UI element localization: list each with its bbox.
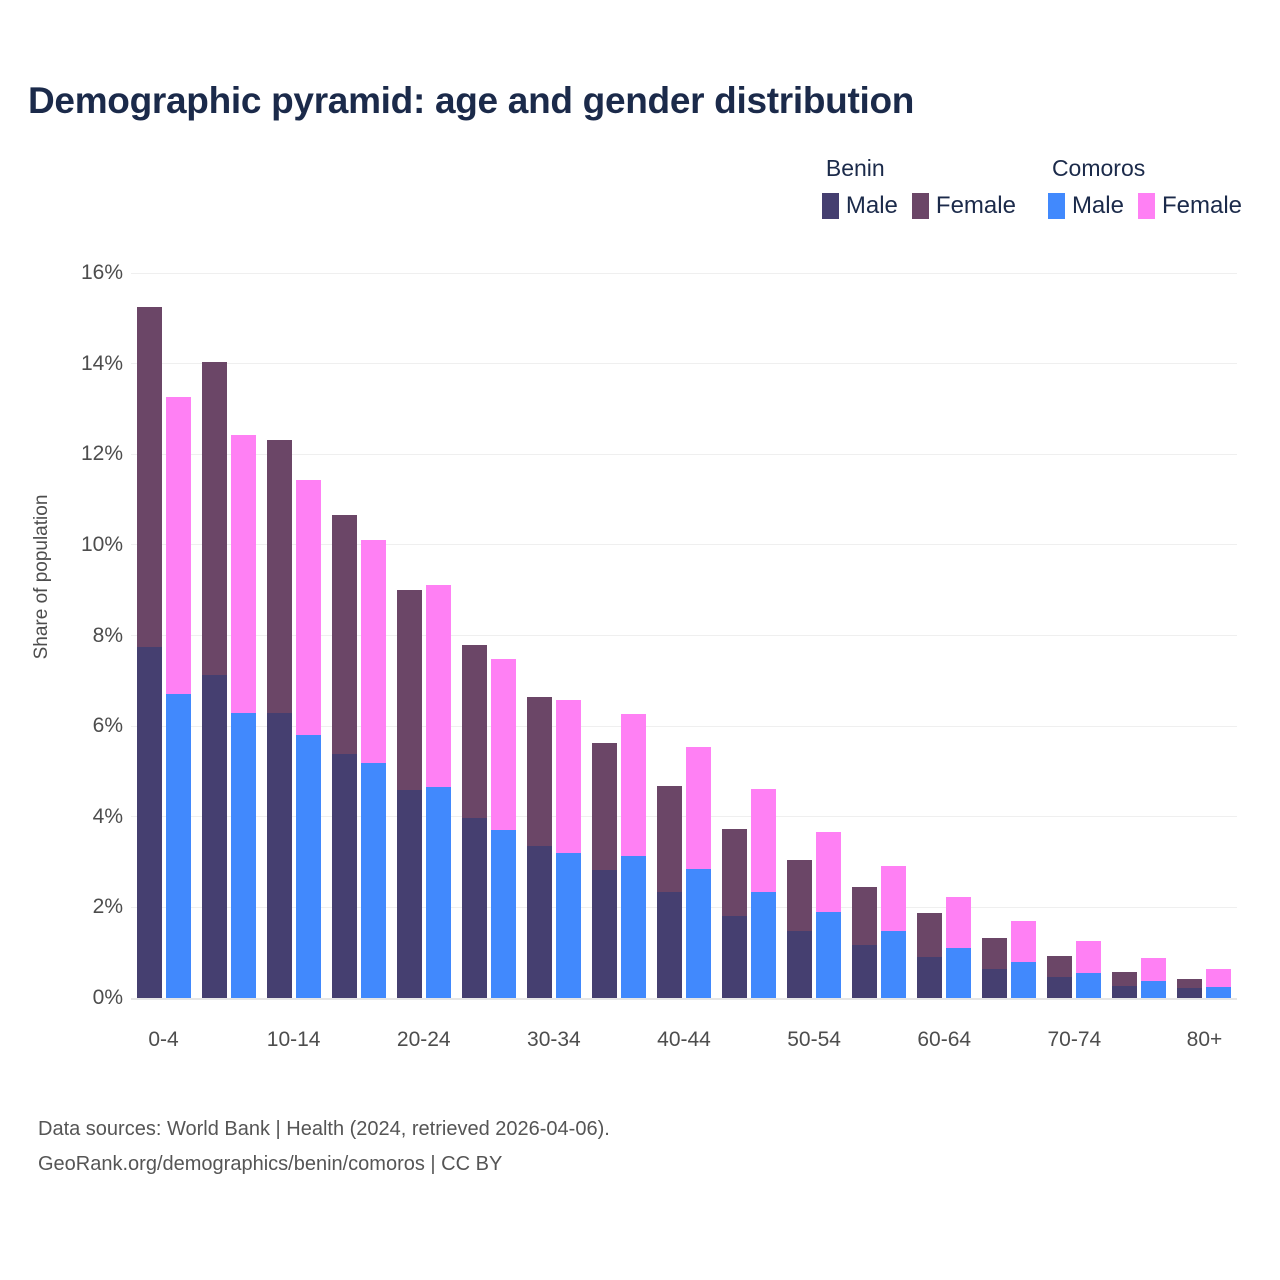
bar-segment-comoros-female bbox=[491, 659, 516, 830]
bar-segment-benin-male bbox=[267, 713, 292, 998]
bar-segment-benin-male bbox=[462, 818, 487, 998]
bar-benin-75-79[interactable] bbox=[1112, 972, 1137, 998]
x-axis-tick-label: 30-34 bbox=[527, 1028, 581, 1052]
bar-segment-comoros-female bbox=[1076, 941, 1101, 973]
legend-group-title: Comoros bbox=[1048, 155, 1145, 182]
bar-comoros-20-24[interactable] bbox=[426, 585, 451, 998]
bar-comoros-80+[interactable] bbox=[1206, 969, 1231, 998]
x-axis-tick-label: 80+ bbox=[1187, 1028, 1223, 1052]
y-axis-tick-label: 16% bbox=[43, 261, 123, 285]
y-axis-tick-label: 4% bbox=[43, 805, 123, 829]
legend-group-title: Benin bbox=[822, 155, 885, 182]
bar-comoros-0-4[interactable] bbox=[166, 397, 191, 998]
bar-segment-benin-male bbox=[592, 870, 617, 998]
bar-segment-comoros-male bbox=[621, 856, 646, 998]
bar-benin-20-24[interactable] bbox=[397, 590, 422, 998]
bar-benin-80+[interactable] bbox=[1177, 979, 1202, 998]
bar-segment-comoros-female bbox=[751, 789, 776, 892]
bar-comoros-40-44[interactable] bbox=[686, 747, 711, 998]
bar-segment-comoros-male bbox=[426, 787, 451, 998]
bar-segment-benin-female bbox=[332, 515, 357, 754]
bar-benin-0-4[interactable] bbox=[137, 307, 162, 998]
bar-segment-comoros-female bbox=[296, 480, 321, 735]
bar-comoros-65-69[interactable] bbox=[1011, 921, 1036, 998]
bar-benin-60-64[interactable] bbox=[917, 913, 942, 998]
y-axis-tick-label: 6% bbox=[43, 714, 123, 738]
bar-segment-benin-female bbox=[852, 887, 877, 945]
bar-segment-comoros-female bbox=[231, 435, 256, 713]
bar-segment-benin-female bbox=[787, 860, 812, 931]
bar-segment-benin-female bbox=[982, 938, 1007, 969]
bar-segment-comoros-female bbox=[1141, 958, 1166, 981]
bar-segment-benin-male bbox=[982, 969, 1007, 998]
bar-comoros-15-19[interactable] bbox=[361, 540, 386, 998]
x-axis-tick-label: 0-4 bbox=[148, 1028, 178, 1052]
bar-benin-5-9[interactable] bbox=[202, 362, 227, 998]
bar-benin-70-74[interactable] bbox=[1047, 956, 1072, 998]
bar-segment-comoros-male bbox=[166, 694, 191, 998]
bar-benin-35-39[interactable] bbox=[592, 743, 617, 998]
footer-attribution: GeoRank.org/demographics/benin/comoros |… bbox=[38, 1147, 610, 1182]
bar-segment-benin-male bbox=[657, 892, 682, 998]
bar-benin-55-59[interactable] bbox=[852, 887, 877, 998]
y-axis-tick-label: 8% bbox=[43, 624, 123, 648]
bar-segment-benin-male bbox=[1047, 977, 1072, 998]
bar-benin-15-19[interactable] bbox=[332, 515, 357, 998]
y-axis-tick-label: 12% bbox=[43, 442, 123, 466]
bar-segment-comoros-female bbox=[556, 700, 581, 853]
bar-segment-comoros-female bbox=[166, 397, 191, 695]
bar-segment-comoros-female bbox=[361, 540, 386, 763]
bar-segment-comoros-male bbox=[556, 853, 581, 998]
gridline bbox=[131, 363, 1237, 364]
legend-item-benin-female[interactable]: Female bbox=[912, 192, 1016, 220]
bar-comoros-30-34[interactable] bbox=[556, 700, 581, 998]
bar-segment-comoros-male bbox=[1206, 987, 1231, 998]
chart-container: Demographic pyramid: age and gender dist… bbox=[0, 0, 1280, 1280]
bar-segment-comoros-male bbox=[686, 869, 711, 998]
legend-group-benin: BeninMaleFemale bbox=[822, 155, 1016, 220]
bar-segment-benin-male bbox=[137, 647, 162, 998]
bar-benin-50-54[interactable] bbox=[787, 860, 812, 998]
x-axis-tick-label: 60-64 bbox=[917, 1028, 971, 1052]
chart-footer: Data sources: World Bank | Health (2024,… bbox=[38, 1112, 610, 1182]
legend-swatch-icon bbox=[1048, 193, 1065, 219]
bar-segment-benin-male bbox=[787, 931, 812, 998]
bar-comoros-75-79[interactable] bbox=[1141, 958, 1166, 998]
bar-segment-comoros-male bbox=[881, 931, 906, 998]
bar-benin-65-69[interactable] bbox=[982, 938, 1007, 998]
bar-comoros-5-9[interactable] bbox=[231, 435, 256, 998]
bar-segment-comoros-female bbox=[1206, 969, 1231, 988]
legend-swatch-icon bbox=[822, 193, 839, 219]
bar-comoros-55-59[interactable] bbox=[881, 866, 906, 998]
legend-group-comoros: ComorosMaleFemale bbox=[1048, 155, 1242, 220]
gridline bbox=[131, 998, 1237, 1000]
bar-segment-benin-female bbox=[592, 743, 617, 870]
bar-segment-benin-male bbox=[527, 846, 552, 998]
bar-segment-benin-female bbox=[917, 913, 942, 957]
bar-segment-benin-male bbox=[202, 675, 227, 998]
bar-comoros-70-74[interactable] bbox=[1076, 941, 1101, 998]
bar-benin-10-14[interactable] bbox=[267, 440, 292, 998]
legend-label: Female bbox=[936, 192, 1016, 220]
bar-segment-comoros-male bbox=[946, 948, 971, 998]
bar-comoros-10-14[interactable] bbox=[296, 480, 321, 998]
bar-segment-benin-male bbox=[1112, 986, 1137, 998]
bar-segment-benin-female bbox=[722, 829, 747, 916]
y-axis-tick-label: 10% bbox=[43, 533, 123, 557]
footer-sources: Data sources: World Bank | Health (2024,… bbox=[38, 1112, 610, 1147]
legend-items: MaleFemale bbox=[1048, 192, 1242, 220]
page-title: Demographic pyramid: age and gender dist… bbox=[28, 80, 914, 122]
x-axis-tick-label: 70-74 bbox=[1047, 1028, 1101, 1052]
bar-segment-comoros-male bbox=[1076, 973, 1101, 998]
y-axis-tick-label: 2% bbox=[43, 895, 123, 919]
bar-benin-30-34[interactable] bbox=[527, 697, 552, 998]
bar-segment-comoros-female bbox=[686, 747, 711, 869]
legend-item-comoros-female[interactable]: Female bbox=[1138, 192, 1242, 220]
bar-segment-benin-female bbox=[657, 786, 682, 892]
bar-segment-comoros-male bbox=[816, 912, 841, 998]
bar-segment-comoros-female bbox=[816, 832, 841, 912]
y-axis-tick-label: 14% bbox=[43, 352, 123, 376]
bar-segment-comoros-male bbox=[231, 713, 256, 998]
bar-segment-benin-female bbox=[397, 590, 422, 790]
legend-items: MaleFemale bbox=[822, 192, 1016, 220]
bar-segment-benin-male bbox=[1177, 988, 1202, 998]
legend-label: Male bbox=[846, 192, 898, 220]
y-axis-title: Share of population bbox=[31, 467, 53, 687]
bar-segment-benin-female bbox=[202, 362, 227, 675]
x-axis-tick-label: 50-54 bbox=[787, 1028, 841, 1052]
bar-segment-comoros-female bbox=[881, 866, 906, 931]
legend-item-comoros-male[interactable]: Male bbox=[1048, 192, 1124, 220]
bar-segment-benin-male bbox=[917, 957, 942, 998]
bar-comoros-25-29[interactable] bbox=[491, 659, 516, 998]
x-axis-tick-label: 10-14 bbox=[267, 1028, 321, 1052]
bar-segment-comoros-female bbox=[1011, 921, 1036, 962]
bar-benin-45-49[interactable] bbox=[722, 829, 747, 998]
bar-segment-benin-male bbox=[852, 945, 877, 998]
bar-comoros-35-39[interactable] bbox=[621, 714, 646, 998]
bar-comoros-60-64[interactable] bbox=[946, 897, 971, 998]
gridline bbox=[131, 454, 1237, 455]
bar-comoros-50-54[interactable] bbox=[816, 832, 841, 998]
bar-segment-comoros-female bbox=[621, 714, 646, 856]
bar-segment-benin-female bbox=[1112, 972, 1137, 986]
chart-legend: BeninMaleFemaleComorosMaleFemale bbox=[822, 155, 1242, 220]
bar-segment-comoros-male bbox=[751, 892, 776, 998]
bar-segment-benin-female bbox=[267, 440, 292, 714]
bar-segment-comoros-female bbox=[426, 585, 451, 787]
bar-segment-comoros-female bbox=[946, 897, 971, 948]
bar-segment-comoros-male bbox=[361, 763, 386, 998]
bar-segment-benin-female bbox=[462, 645, 487, 819]
bar-segment-benin-male bbox=[332, 754, 357, 998]
y-axis-tick-label: 0% bbox=[43, 986, 123, 1010]
legend-label: Male bbox=[1072, 192, 1124, 220]
bar-segment-benin-male bbox=[397, 790, 422, 998]
legend-swatch-icon bbox=[912, 193, 929, 219]
bar-segment-benin-female bbox=[137, 307, 162, 647]
bar-comoros-45-49[interactable] bbox=[751, 789, 776, 998]
gridline bbox=[131, 273, 1237, 274]
bar-segment-comoros-male bbox=[1141, 981, 1166, 998]
x-axis-tick-label: 40-44 bbox=[657, 1028, 711, 1052]
legend-label: Female bbox=[1162, 192, 1242, 220]
bar-segment-comoros-male bbox=[1011, 962, 1036, 998]
bar-benin-25-29[interactable] bbox=[462, 645, 487, 998]
bar-segment-comoros-male bbox=[296, 735, 321, 998]
bar-segment-benin-female bbox=[1177, 979, 1202, 988]
x-axis-tick-label: 20-24 bbox=[397, 1028, 451, 1052]
bar-segment-benin-female bbox=[1047, 956, 1072, 977]
legend-item-benin-male[interactable]: Male bbox=[822, 192, 898, 220]
bar-segment-benin-female bbox=[527, 697, 552, 846]
bar-benin-40-44[interactable] bbox=[657, 786, 682, 998]
bar-segment-benin-male bbox=[722, 916, 747, 998]
legend-swatch-icon bbox=[1138, 193, 1155, 219]
bar-segment-comoros-male bbox=[491, 830, 516, 998]
